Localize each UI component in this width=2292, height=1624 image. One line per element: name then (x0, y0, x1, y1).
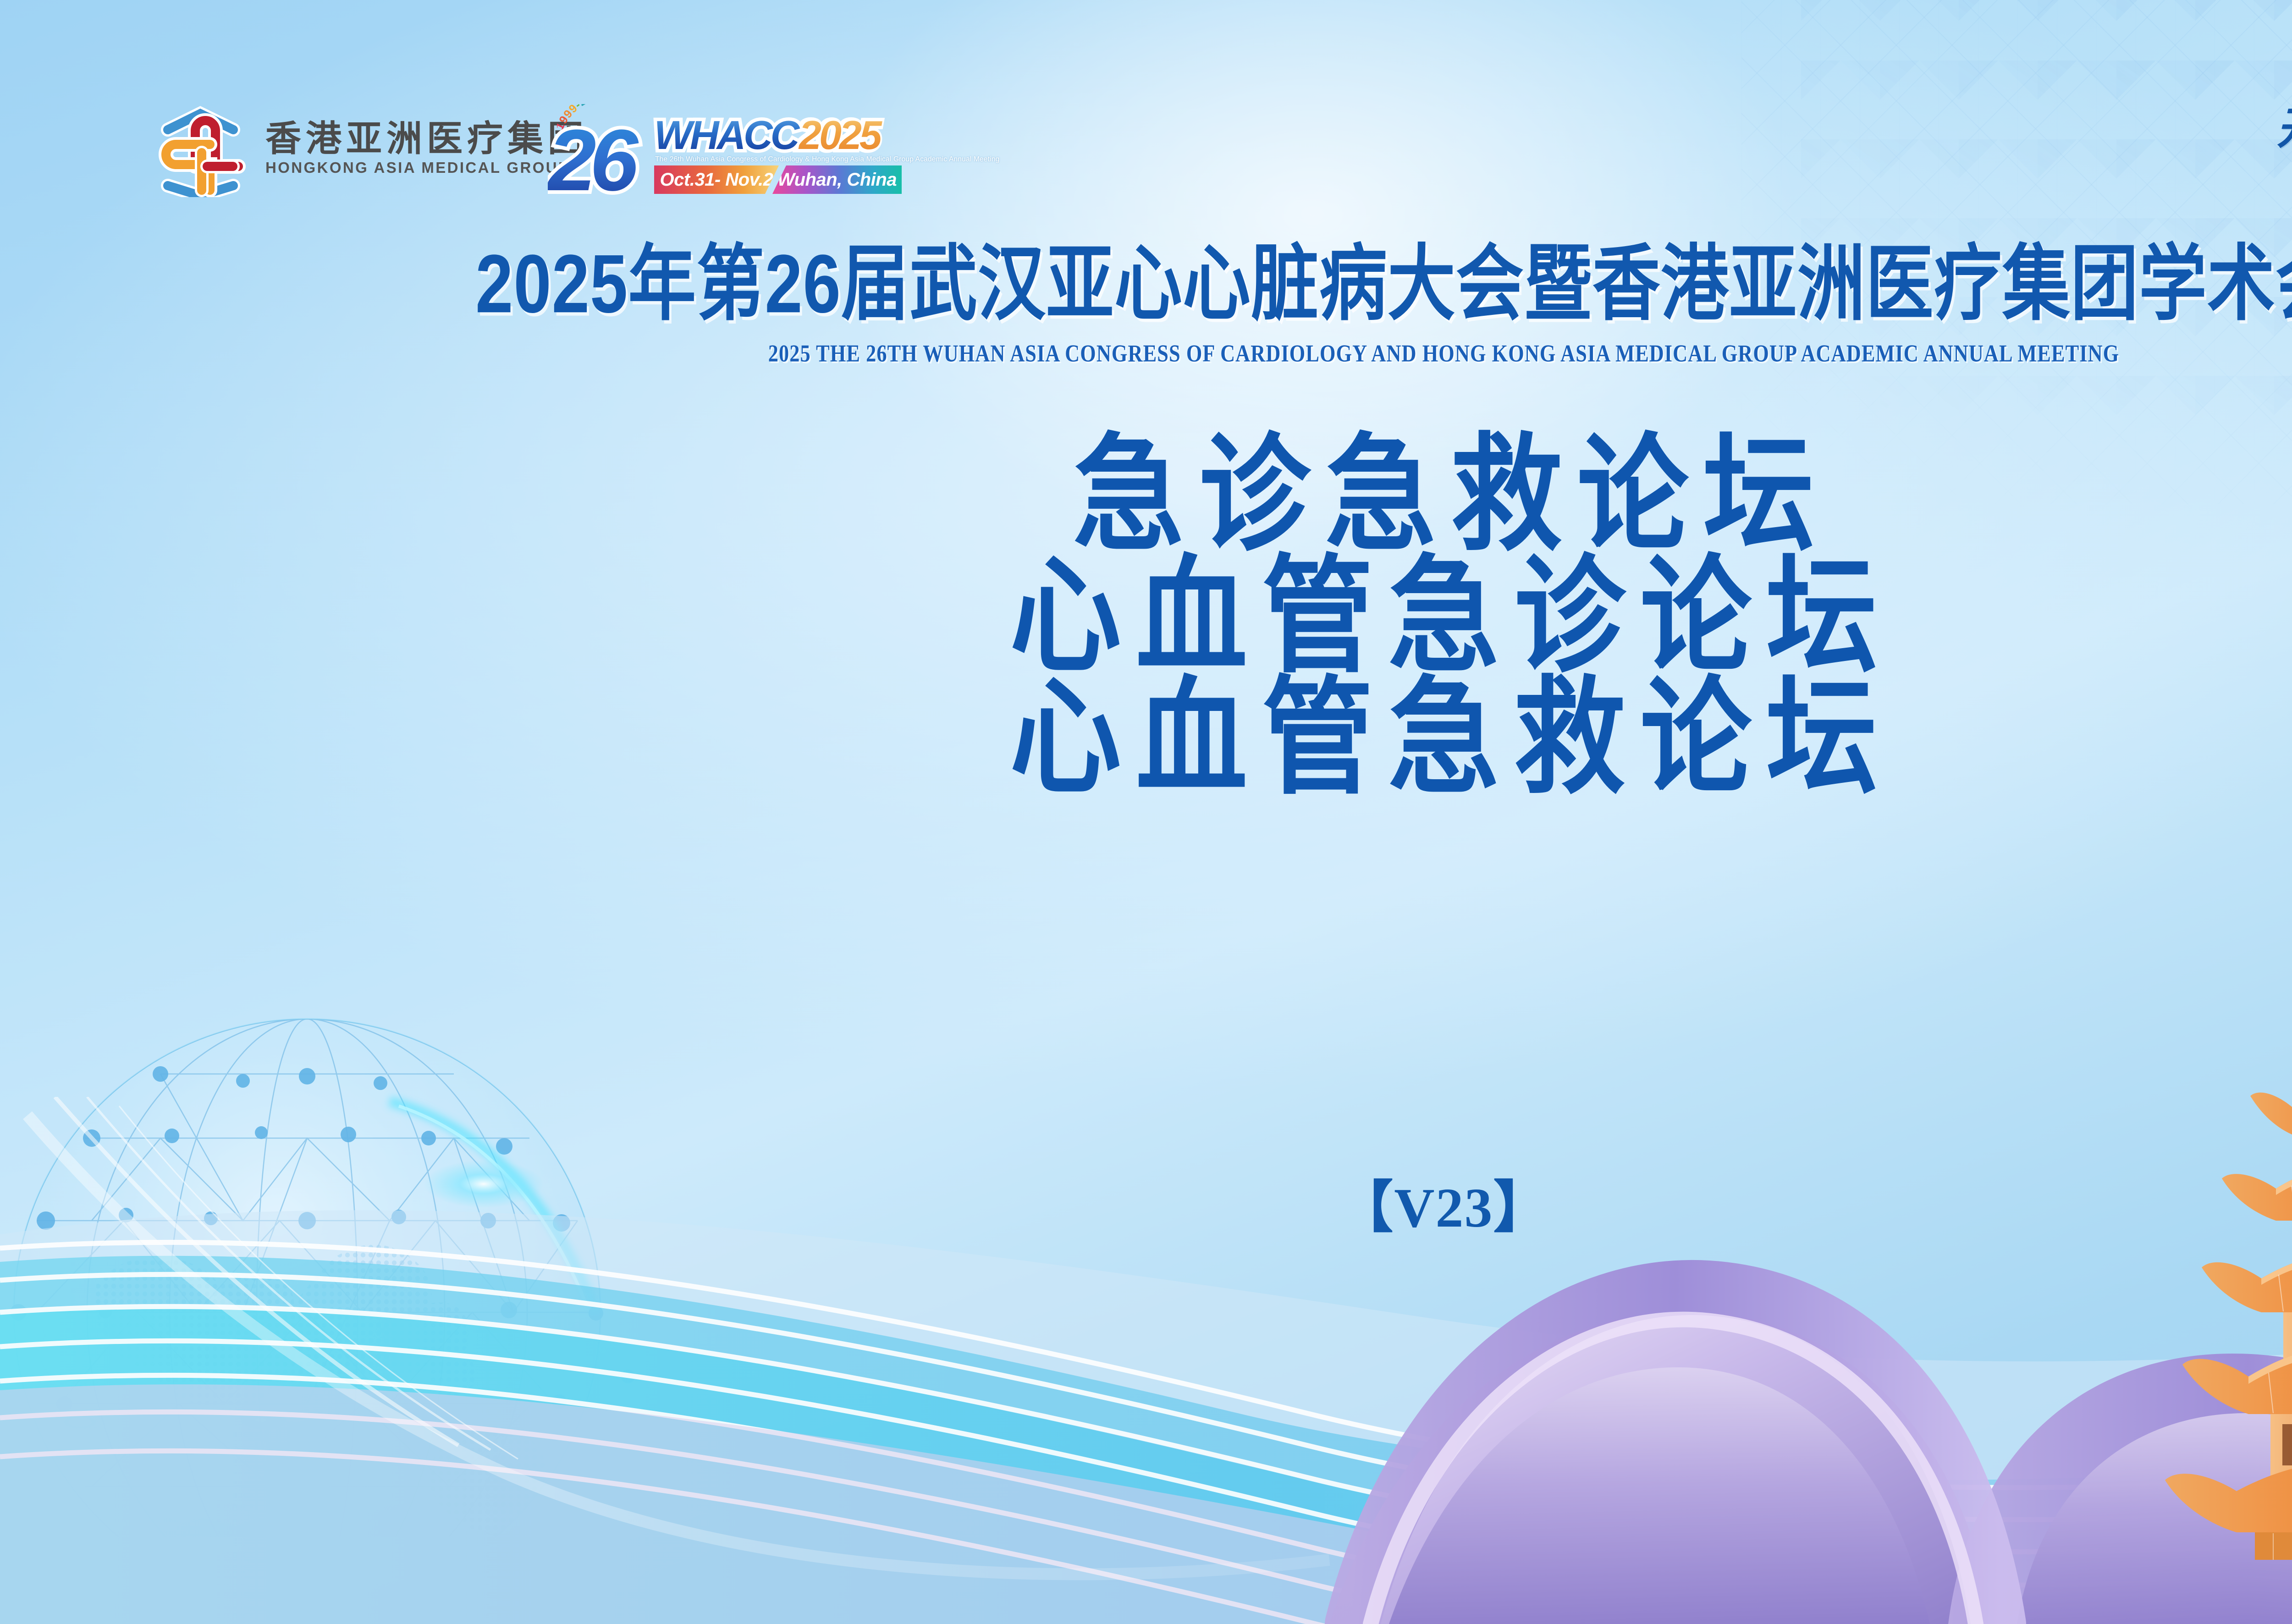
keyword-group: 开放 Openness 国际 Internationalization 融合 I… (2256, 107, 2292, 173)
header-bar: 香港亚洲医疗集团 HONGKONG ASIA MEDICAL GROUP 199… (0, 94, 2292, 199)
svg-text:26: 26 (548, 121, 639, 198)
svg-text:2025: 2025 (798, 113, 882, 157)
whacc-2025-logo: 1999-2025 26 26 (548, 103, 915, 197)
hk-logo-cn-name: 香港亚洲医疗集团 (265, 121, 588, 156)
hk-logo-en-name: HONGKONG ASIA MEDICAL GROUP (265, 160, 588, 175)
ribbon-wave-graphic (0, 1097, 2292, 1624)
keyword-openness-cn: 开放 (2256, 107, 2292, 151)
svg-text:WHACC: WHACC (654, 113, 800, 157)
whacc-wordmark: WHACC2025 WHACC 2025 (653, 113, 910, 157)
forum-line-2: 心血管急诊论坛 (0, 548, 2292, 686)
conference-title-cn: 2025年第26届武汉亚心心脏病大会暨香港亚洲医疗集团学术会议 (0, 243, 2292, 326)
forum-title-block: 急诊急救论坛 心血管急诊论坛 心血管急救论坛 (0, 426, 2292, 791)
forum-line-1: 急诊急救论坛 (0, 426, 2292, 565)
version-tag: 【V23】 (0, 1180, 2292, 1236)
whacc-place-label: Wuhan, China (772, 165, 902, 194)
interlocking-cross-logo-icon (151, 99, 250, 197)
conference-title-en: 2025 THE 26TH WUHAN ASIA CONGRESS OF CAR… (22, 341, 2292, 366)
whacc-edition-number: 26 26 (548, 121, 665, 198)
keyword-openness-en: Openness (2256, 156, 2292, 173)
forum-line-3: 心血管急救论坛 (0, 669, 2292, 808)
whacc-date-label: Oct.31- Nov.2 (654, 165, 779, 194)
hongkong-asia-medical-group-logo: 香港亚洲医疗集团 HONGKONG ASIA MEDICAL GROUP (151, 99, 588, 197)
whacc-date-place-bar: Oct.31- Nov.2 Wuhan, China (654, 165, 902, 194)
keyword-openness: 开放 Openness (2256, 107, 2292, 173)
